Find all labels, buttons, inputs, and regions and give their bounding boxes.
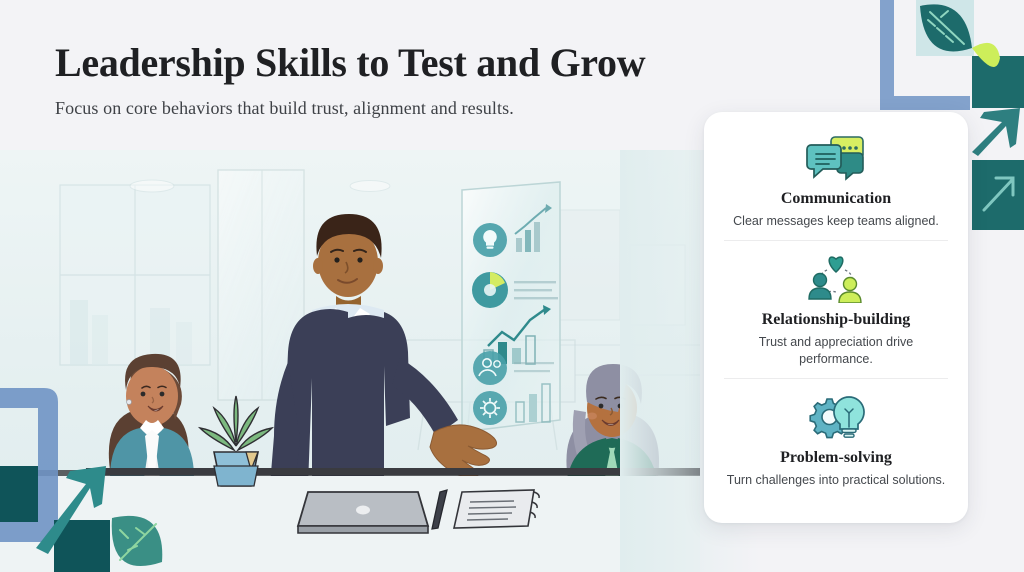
dashboard-gear-icon: [473, 391, 507, 425]
spiral-notebook: [454, 490, 539, 528]
skill-description: Trust and appreciation drive performance…: [724, 334, 948, 368]
header: Leadership Skills to Test and Grow Focus…: [55, 40, 755, 119]
office-window: [60, 185, 210, 365]
skill-card-communication[interactable]: Communication Clear messages keep teams …: [724, 128, 948, 240]
skill-card-problem-solving[interactable]: Problem-solving Turn challenges into pra…: [724, 378, 948, 499]
decoration-bottom-left: [0, 378, 170, 572]
glass-screen-dashboard: [462, 182, 560, 432]
arrow-up-right-icon: [972, 108, 1020, 156]
dashboard-bulb-icon: [473, 223, 507, 257]
gear-lightbulb-icon: [724, 393, 948, 441]
desk-front-edge: [86, 468, 700, 475]
skill-title: Communication: [724, 190, 948, 208]
skill-description: Clear messages keep teams aligned.: [724, 213, 948, 230]
dashboard-pie-icon: [472, 272, 508, 308]
speech-bubbles-icon: [724, 134, 948, 182]
page-subtitle: Focus on core behaviors that build trust…: [55, 98, 755, 119]
skill-title: Problem-solving: [724, 449, 948, 467]
skill-description: Turn challenges into practical solutions…: [724, 472, 948, 489]
dashboard-people-icon: [473, 351, 507, 385]
skills-panel: Communication Clear messages keep teams …: [704, 112, 968, 523]
skill-title: Relationship-building: [724, 311, 948, 329]
slide-canvas: Leadership Skills to Test and Grow Focus…: [0, 0, 1024, 572]
leaf-teal-icon-2: [112, 516, 163, 566]
skill-card-relationship-building[interactable]: Relationship-building Trust and apprecia…: [724, 240, 948, 378]
page-title: Leadership Skills to Test and Grow: [55, 40, 755, 86]
laptop: [298, 492, 428, 533]
people-heart-icon: [724, 255, 948, 303]
